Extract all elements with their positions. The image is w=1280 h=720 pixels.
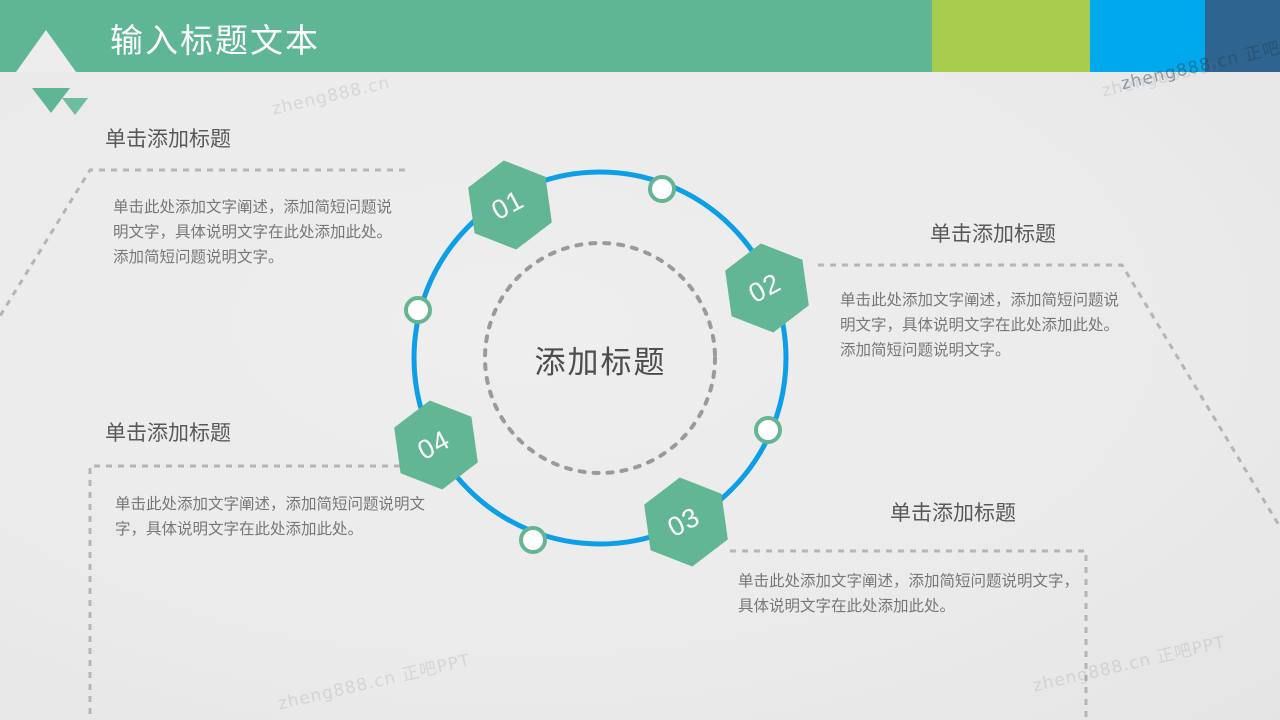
callout-body: 单击此处添加文字阐述，添加简短问题说明文字，具体说明文字在此处添加此处。添加简短…	[113, 195, 398, 270]
hex-node-02[interactable]	[722, 238, 812, 338]
callout-body: 单击此处添加文字阐述，添加简短问题说明文字，具体说明文字在此处添加此处。添加简短…	[840, 288, 1128, 363]
slide-canvas: 输入标题文本	[0, 0, 1280, 720]
callout-bottom-right: 单击添加标题 单击此处添加文字阐述，添加简短问题说明文字，具体说明文字在此处添加…	[730, 497, 1090, 619]
callout-body: 单击此处添加文字阐述，添加简短问题说明文字，具体说明文字在此处添加此处。	[115, 492, 430, 542]
hex-node-03[interactable]	[641, 472, 731, 572]
callout-title: 单击添加标题	[105, 417, 435, 447]
callout-title: 单击添加标题	[890, 497, 1090, 527]
callout-top-right: 单击添加标题 单击此处添加文字阐述，添加简短问题说明文字，具体说明文字在此处添加…	[840, 218, 1140, 363]
ring-marker-left[interactable]	[406, 298, 430, 322]
callout-body: 单击此处添加文字阐述，添加简短问题说明文字，具体说明文字在此处添加此处。	[738, 569, 1083, 619]
callout-top-left: 单击添加标题 单击此处添加文字阐述，添加简短问题说明文字，具体说明文字在此处添加…	[105, 123, 405, 270]
callout-bottom-left: 单击添加标题 单击此处添加文字阐述，添加简短问题说明文字，具体说明文字在此处添加…	[105, 417, 435, 542]
callout-title: 单击添加标题	[105, 123, 405, 153]
ring-marker-top-right[interactable]	[650, 177, 674, 201]
ring-marker-right[interactable]	[756, 418, 780, 442]
diagram-center-title: 添加标题	[483, 337, 718, 382]
ring-marker-bottom[interactable]	[521, 528, 545, 552]
hex-node-01[interactable]	[465, 155, 555, 255]
callout-title: 单击添加标题	[930, 218, 1140, 248]
